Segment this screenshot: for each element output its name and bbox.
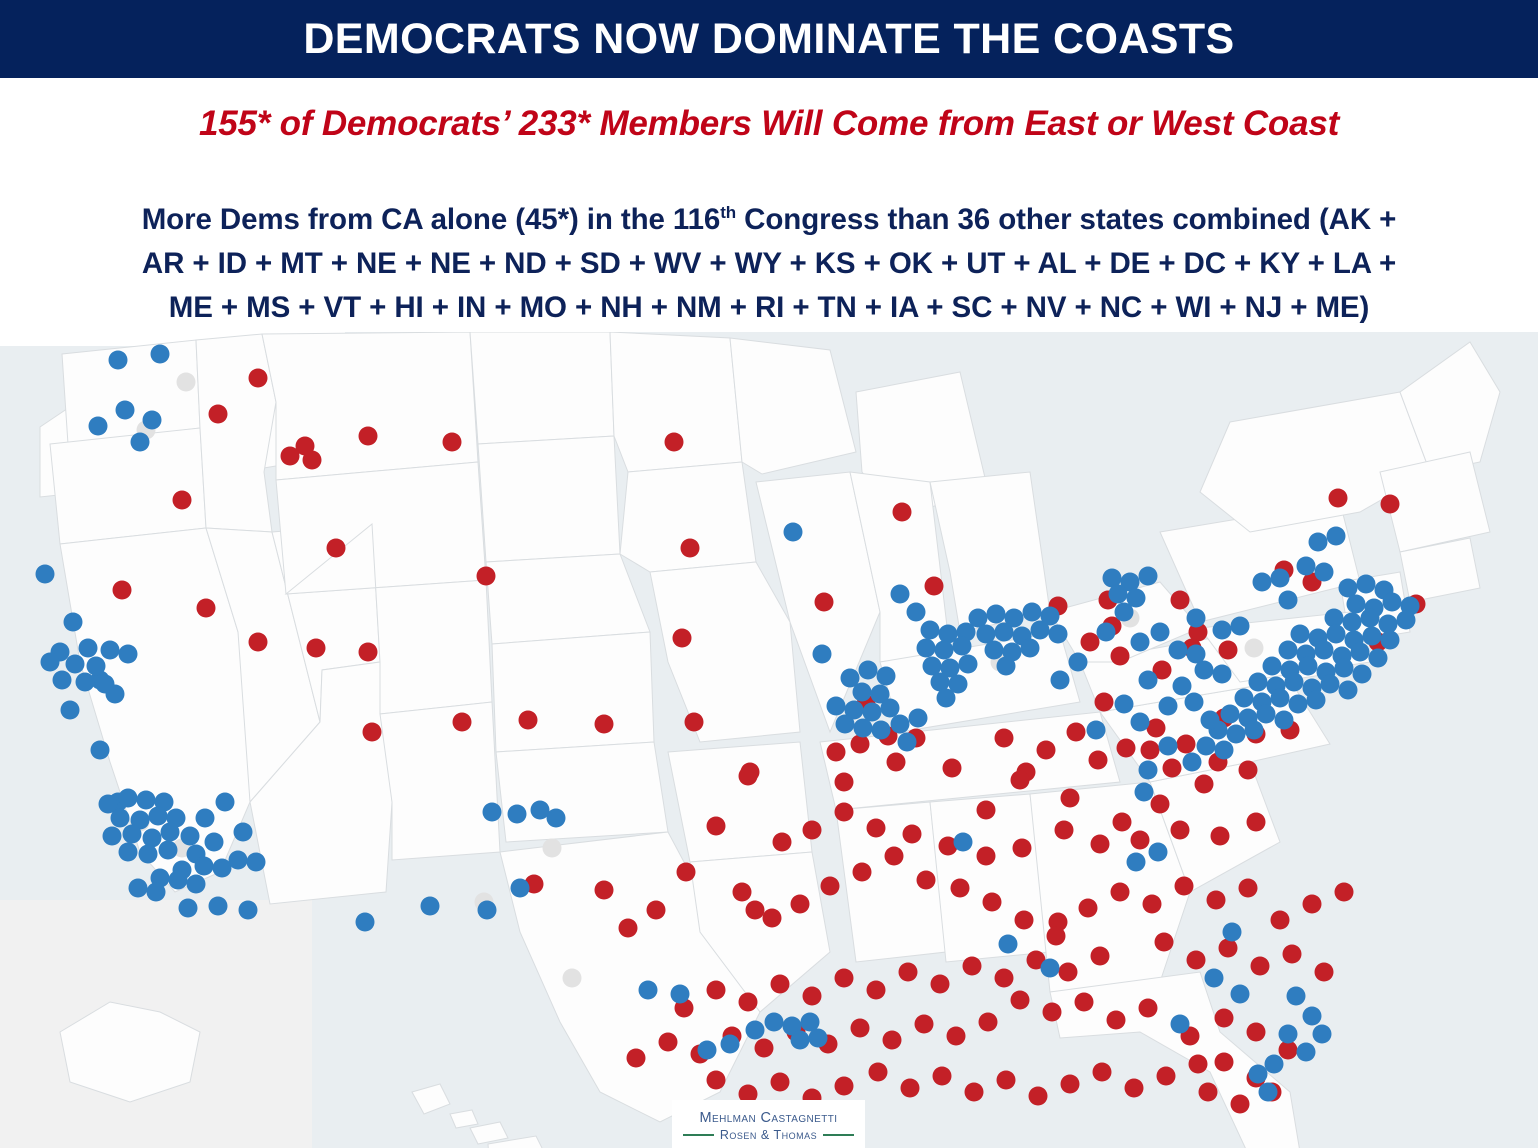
district-dot-democrat xyxy=(179,899,198,918)
district-dot-democrat xyxy=(1201,711,1220,730)
district-dot-democrat xyxy=(784,523,803,542)
district-dot-republican xyxy=(1047,927,1066,946)
district-dot-democrat xyxy=(746,1021,765,1040)
district-dot-democrat xyxy=(1351,643,1370,662)
district-dot-republican xyxy=(995,729,1014,748)
district-dot-democrat xyxy=(169,871,188,890)
district-dot-republican xyxy=(1143,895,1162,914)
district-dot-democrat xyxy=(205,833,224,852)
district-dot-republican xyxy=(963,957,982,976)
district-dot-democrat xyxy=(1195,661,1214,680)
logo-secondary-row: Rosen & Thomas xyxy=(683,1128,854,1142)
district-dot-republican xyxy=(209,405,228,424)
district-dot-republican xyxy=(1247,813,1266,832)
district-dot-democrat xyxy=(195,857,214,876)
district-dot-republican xyxy=(1251,957,1270,976)
district-dot-republican xyxy=(1093,1063,1112,1082)
district-dot-democrat xyxy=(109,351,128,370)
district-dot-republican xyxy=(1091,835,1110,854)
district-dot-democrat xyxy=(1021,639,1040,658)
district-dot-democrat xyxy=(985,641,1004,660)
district-dot-vacant xyxy=(1245,639,1264,658)
district-dot-republican xyxy=(733,883,752,902)
district-dot-democrat xyxy=(1271,569,1290,588)
district-dot-republican xyxy=(739,767,758,786)
district-dot-democrat xyxy=(1279,591,1298,610)
district-dot-democrat xyxy=(116,401,135,420)
district-dot-republican xyxy=(901,1079,920,1098)
district-dot-republican xyxy=(835,803,854,822)
district-dot-democrat xyxy=(836,715,855,734)
district-dot-democrat xyxy=(1313,1025,1332,1044)
district-dot-democrat xyxy=(1249,1065,1268,1084)
district-dot-democrat xyxy=(1307,691,1326,710)
district-dot-democrat xyxy=(96,675,115,694)
district-dot-republican xyxy=(595,715,614,734)
district-dot-democrat xyxy=(239,901,258,920)
district-dot-republican xyxy=(1055,821,1074,840)
district-dot-democrat xyxy=(765,1013,784,1032)
district-dot-republican xyxy=(1037,741,1056,760)
district-dot-republican xyxy=(1175,877,1194,896)
district-dot-democrat xyxy=(1205,969,1224,988)
district-dot-democrat xyxy=(1279,1025,1298,1044)
district-dot-democrat xyxy=(1315,641,1334,660)
district-dot-democrat xyxy=(1109,585,1128,604)
district-dot-democrat xyxy=(1275,711,1294,730)
district-dot-democrat xyxy=(64,613,83,632)
district-dot-democrat xyxy=(1363,627,1382,646)
district-dot-democrat xyxy=(131,433,150,452)
district-dot-republican xyxy=(1013,839,1032,858)
district-dot-republican xyxy=(883,1031,902,1050)
district-dot-democrat xyxy=(1347,595,1366,614)
district-dot-democrat xyxy=(139,845,158,864)
body-line-2: AR + ID + MT + NE + NE + ND + SD + WV + … xyxy=(142,242,1396,286)
district-dot-republican xyxy=(887,753,906,772)
district-dot-democrat xyxy=(1369,649,1388,668)
district-dot-republican xyxy=(1177,735,1196,754)
district-dot-republican xyxy=(281,447,300,466)
district-dot-republican xyxy=(1111,647,1130,666)
district-dot-democrat xyxy=(1265,1055,1284,1074)
district-dot-republican xyxy=(1091,947,1110,966)
district-dot-democrat xyxy=(1215,741,1234,760)
district-dot-democrat xyxy=(111,809,130,828)
district-dot-republican xyxy=(835,773,854,792)
district-dot-republican xyxy=(1155,933,1174,952)
district-dot-democrat xyxy=(1051,671,1070,690)
district-dot-republican xyxy=(947,1027,966,1046)
district-dot-democrat xyxy=(41,653,60,672)
district-dot-republican xyxy=(893,503,912,522)
district-dot-democrat xyxy=(671,985,690,1004)
district-dot-republican xyxy=(677,863,696,882)
district-dot-democrat xyxy=(1235,689,1254,708)
district-dot-democrat xyxy=(181,827,200,846)
district-dot-democrat xyxy=(61,701,80,720)
district-dot-democrat xyxy=(1263,657,1282,676)
district-dot-democrat xyxy=(151,345,170,364)
district-dot-democrat xyxy=(1381,631,1400,650)
body-paragraph: More Dems from CA alone (45*) in the 116… xyxy=(0,170,1538,332)
district-dot-republican xyxy=(1079,899,1098,918)
district-dot-republican xyxy=(903,825,922,844)
district-dot-democrat xyxy=(209,897,228,916)
district-dot-democrat xyxy=(187,875,206,894)
company-logo: Mehlman Castagnetti Rosen & Thomas xyxy=(672,1100,865,1148)
district-dot-democrat xyxy=(1139,671,1158,690)
district-dot-republican xyxy=(1067,723,1086,742)
district-dot-democrat xyxy=(1353,665,1372,684)
district-dot-democrat xyxy=(1231,617,1250,636)
district-dot-democrat xyxy=(356,913,375,932)
district-dot-democrat xyxy=(36,565,55,584)
district-dot-democrat xyxy=(1223,923,1242,942)
district-dot-democrat xyxy=(247,853,266,872)
district-dot-republican xyxy=(363,723,382,742)
district-dot-democrat xyxy=(129,879,148,898)
district-dot-democrat xyxy=(143,829,162,848)
district-dot-democrat xyxy=(721,1035,740,1054)
district-dot-republican xyxy=(707,817,726,836)
district-dot-democrat xyxy=(159,841,178,860)
district-dot-republican xyxy=(681,539,700,558)
district-dot-democrat xyxy=(87,657,106,676)
slide-root: DEMOCRATS NOW DOMINATE THE COASTS 155* o… xyxy=(0,0,1538,1148)
district-dot-democrat xyxy=(1325,609,1344,628)
district-dot-democrat xyxy=(1327,625,1346,644)
district-dot-republican xyxy=(851,735,870,754)
district-dot-republican xyxy=(791,895,810,914)
district-dot-democrat xyxy=(1197,737,1216,756)
district-dot-democrat xyxy=(1285,673,1304,692)
district-dot-republican xyxy=(821,877,840,896)
district-dot-democrat xyxy=(639,981,658,1000)
district-dot-democrat xyxy=(813,645,832,664)
district-dot-democrat xyxy=(1131,713,1150,732)
body-line-1-post: Congress than 36 other states combined (… xyxy=(736,203,1396,236)
district-dot-republican xyxy=(453,713,472,732)
district-dot-democrat xyxy=(953,637,972,656)
district-dot-democrat xyxy=(1327,527,1346,546)
district-dot-democrat xyxy=(1271,689,1290,708)
district-dot-democrat xyxy=(1245,721,1264,740)
district-dot-democrat xyxy=(229,851,248,870)
district-dot-democrat xyxy=(1321,675,1340,694)
district-dot-democrat xyxy=(421,897,440,916)
district-dot-democrat xyxy=(478,901,497,920)
district-dot-democrat xyxy=(954,833,973,852)
district-dot-republican xyxy=(803,987,822,1006)
district-dot-democrat xyxy=(827,697,846,716)
body-line-1-pre: More Dems from CA alone (45*) in the 116 xyxy=(142,203,721,236)
district-dot-democrat xyxy=(1023,603,1042,622)
district-dot-democrat xyxy=(91,741,110,760)
page-title: DEMOCRATS NOW DOMINATE THE COASTS xyxy=(303,15,1234,64)
district-dot-republican xyxy=(917,871,936,890)
district-dot-republican xyxy=(1061,1075,1080,1094)
district-dot-republican xyxy=(1271,911,1290,930)
district-dot-republican xyxy=(519,711,538,730)
district-dot-republican xyxy=(1131,831,1150,850)
district-dot-republican xyxy=(1381,495,1400,514)
subtitle-section: 155* of Democrats’ 233* Members Will Com… xyxy=(0,78,1538,170)
district-dot-republican xyxy=(951,879,970,898)
district-dot-democrat xyxy=(1297,1043,1316,1062)
district-dot-democrat xyxy=(1221,705,1240,724)
district-dot-republican xyxy=(931,975,950,994)
district-dot-republican xyxy=(771,975,790,994)
district-dot-republican xyxy=(659,1033,678,1052)
district-dot-republican xyxy=(359,427,378,446)
district-dot-democrat xyxy=(1049,625,1068,644)
district-dot-democrat xyxy=(891,585,910,604)
district-dot-vacant xyxy=(177,373,196,392)
district-dot-republican xyxy=(1095,693,1114,712)
district-dot-democrat xyxy=(1299,657,1318,676)
district-dot-democrat xyxy=(1139,567,1158,586)
district-dot-republican xyxy=(1141,741,1160,760)
district-dot-democrat xyxy=(66,655,85,674)
district-dot-democrat xyxy=(1379,615,1398,634)
district-dot-republican xyxy=(303,451,322,470)
district-dot-democrat xyxy=(483,803,502,822)
district-dot-republican xyxy=(1061,789,1080,808)
district-dot-democrat xyxy=(853,683,872,702)
district-dot-republican xyxy=(1113,813,1132,832)
title-banner: DEMOCRATS NOW DOMINATE THE COASTS xyxy=(0,0,1538,78)
district-dot-democrat xyxy=(1231,985,1250,1004)
district-dot-republican xyxy=(1219,939,1238,958)
district-dot-democrat xyxy=(859,661,878,680)
district-dot-democrat xyxy=(1115,695,1134,714)
us-district-map xyxy=(0,332,1538,1148)
district-dot-republican xyxy=(1059,963,1078,982)
district-dot-democrat xyxy=(119,645,138,664)
district-dot-republican xyxy=(851,1019,870,1038)
district-dot-republican xyxy=(867,981,886,1000)
district-dot-democrat xyxy=(1031,621,1050,640)
district-dot-republican xyxy=(899,963,918,982)
district-dot-republican xyxy=(619,919,638,938)
district-dot-republican xyxy=(595,881,614,900)
district-dot-democrat xyxy=(1287,987,1306,1006)
district-dot-republican xyxy=(827,743,846,762)
district-dot-democrat xyxy=(872,721,891,740)
district-dot-democrat xyxy=(1253,573,1272,592)
district-dot-republican xyxy=(1139,999,1158,1018)
district-dot-republican xyxy=(1283,945,1302,964)
body-line-1: More Dems from CA alone (45*) in the 116… xyxy=(142,198,1397,242)
district-dot-democrat xyxy=(1397,611,1416,630)
district-dot-democrat xyxy=(123,825,142,844)
district-dot-vacant xyxy=(563,969,582,988)
district-dot-republican xyxy=(307,639,326,658)
district-dot-republican xyxy=(979,1013,998,1032)
district-dot-republican xyxy=(925,577,944,596)
district-dot-republican xyxy=(1163,759,1182,778)
district-dot-republican xyxy=(647,901,666,920)
district-dot-republican xyxy=(1081,633,1100,652)
district-dot-republican xyxy=(943,759,962,778)
district-dot-democrat xyxy=(1309,533,1328,552)
district-dot-republican xyxy=(977,801,996,820)
district-dot-republican xyxy=(1215,1009,1234,1028)
map-svg xyxy=(0,332,1538,1148)
district-dot-republican xyxy=(815,593,834,612)
district-dot-democrat xyxy=(1259,1083,1278,1102)
district-dot-democrat xyxy=(1127,853,1146,872)
district-dot-republican xyxy=(1111,883,1130,902)
district-dot-democrat xyxy=(1335,659,1354,678)
district-dot-democrat xyxy=(1171,1015,1190,1034)
district-dot-republican xyxy=(1211,827,1230,846)
district-dot-republican xyxy=(835,969,854,988)
district-dot-democrat xyxy=(53,671,72,690)
district-dot-republican xyxy=(915,1015,934,1034)
hawaii-inset xyxy=(412,1084,552,1148)
district-dot-democrat xyxy=(1357,575,1376,594)
logo-rule-right xyxy=(823,1134,854,1136)
district-dot-democrat xyxy=(987,605,1006,624)
district-dot-republican xyxy=(803,821,822,840)
district-dot-democrat xyxy=(216,793,235,812)
district-dot-democrat xyxy=(137,791,156,810)
district-dot-democrat xyxy=(103,827,122,846)
district-dot-republican xyxy=(327,539,346,558)
district-dot-republican xyxy=(1029,1087,1048,1106)
district-dot-republican xyxy=(1043,1003,1062,1022)
district-dot-democrat xyxy=(1185,693,1204,712)
district-dot-democrat xyxy=(149,807,168,826)
district-dot-republican xyxy=(249,633,268,652)
district-dot-republican xyxy=(1171,591,1190,610)
district-dot-republican xyxy=(249,369,268,388)
district-dot-democrat xyxy=(1291,625,1310,644)
district-dot-democrat xyxy=(1159,697,1178,716)
district-dot-republican xyxy=(685,713,704,732)
district-dot-republican xyxy=(627,1049,646,1068)
district-dot-democrat xyxy=(1227,725,1246,744)
district-dot-republican xyxy=(771,1073,790,1092)
district-dot-republican xyxy=(1117,739,1136,758)
district-dot-republican xyxy=(1239,879,1258,898)
district-dot-democrat xyxy=(917,639,936,658)
district-dot-democrat xyxy=(877,667,896,686)
district-dot-republican xyxy=(1315,963,1334,982)
district-dot-democrat xyxy=(147,883,166,902)
district-dot-democrat xyxy=(119,789,138,808)
district-dot-republican xyxy=(1195,775,1214,794)
district-dot-democrat xyxy=(119,843,138,862)
district-dot-republican xyxy=(739,993,758,1012)
district-dot-democrat xyxy=(1297,557,1316,576)
district-dot-republican xyxy=(997,1071,1016,1090)
district-dot-republican xyxy=(885,847,904,866)
logo-rule-left xyxy=(683,1134,714,1136)
district-dot-democrat xyxy=(1139,761,1158,780)
district-dot-democrat xyxy=(791,1031,810,1050)
district-dot-democrat xyxy=(1279,641,1298,660)
district-dot-democrat xyxy=(1343,613,1362,632)
district-dot-democrat xyxy=(937,689,956,708)
district-dot-republican xyxy=(983,893,1002,912)
district-dot-democrat xyxy=(1097,623,1116,642)
district-dot-democrat xyxy=(76,673,95,692)
district-dot-republican xyxy=(869,1063,888,1082)
district-dot-republican xyxy=(1089,751,1108,770)
district-dot-democrat xyxy=(1383,593,1402,612)
district-dot-republican xyxy=(443,433,462,452)
district-dot-republican xyxy=(1011,771,1030,790)
district-dot-republican xyxy=(1239,761,1258,780)
district-dot-republican xyxy=(1189,1055,1208,1074)
district-dot-democrat xyxy=(196,809,215,828)
district-dot-democrat xyxy=(161,823,180,842)
district-dot-democrat xyxy=(959,655,978,674)
district-dot-democrat xyxy=(1087,721,1106,740)
district-dot-republican xyxy=(707,1071,726,1090)
district-dot-democrat xyxy=(1213,621,1232,640)
district-dot-republican xyxy=(173,491,192,510)
district-dot-democrat xyxy=(1183,753,1202,772)
district-dot-republican xyxy=(1187,951,1206,970)
district-dot-republican xyxy=(746,901,765,920)
district-dot-democrat xyxy=(1249,673,1268,692)
district-dot-democrat xyxy=(1173,677,1192,696)
district-dot-democrat xyxy=(698,1041,717,1060)
district-dot-democrat xyxy=(1135,783,1154,802)
district-dot-republican xyxy=(1171,821,1190,840)
district-dot-republican xyxy=(197,599,216,618)
district-dot-republican xyxy=(1303,895,1322,914)
district-dot-republican xyxy=(1329,489,1348,508)
district-dot-democrat xyxy=(1169,641,1188,660)
district-dot-republican xyxy=(1157,1067,1176,1086)
district-dot-democrat xyxy=(143,411,162,430)
alaska-inset xyxy=(60,1002,200,1102)
ordinal-suffix: th xyxy=(720,203,736,222)
district-dot-republican xyxy=(1219,641,1238,660)
district-dot-democrat xyxy=(1339,681,1358,700)
district-dot-republican xyxy=(1125,1079,1144,1098)
district-dot-democrat xyxy=(854,719,873,738)
logo-primary-name: Mehlman Castagnetti xyxy=(700,1110,838,1126)
district-dot-democrat xyxy=(1187,609,1206,628)
district-dot-democrat xyxy=(1303,1007,1322,1026)
district-dot-republican xyxy=(1207,891,1226,910)
district-dot-democrat xyxy=(89,417,108,436)
district-dot-republican xyxy=(755,1039,774,1058)
district-dot-republican xyxy=(113,581,132,600)
district-dot-democrat xyxy=(79,639,98,658)
district-dot-democrat xyxy=(1151,623,1170,642)
district-dot-democrat xyxy=(881,699,900,718)
district-dot-republican xyxy=(1151,795,1170,814)
district-dot-democrat xyxy=(907,603,926,622)
district-dot-republican xyxy=(1231,1095,1250,1114)
district-dot-democrat xyxy=(1041,959,1060,978)
district-dot-republican xyxy=(1247,1023,1266,1042)
district-dot-democrat xyxy=(1149,843,1168,862)
district-dot-democrat xyxy=(921,621,940,640)
district-dot-vacant xyxy=(543,839,562,858)
district-dot-democrat xyxy=(997,657,1016,676)
subtitle: 155* of Democrats’ 233* Members Will Com… xyxy=(199,104,1339,144)
district-dot-republican xyxy=(1011,991,1030,1010)
district-dot-democrat xyxy=(547,809,566,828)
